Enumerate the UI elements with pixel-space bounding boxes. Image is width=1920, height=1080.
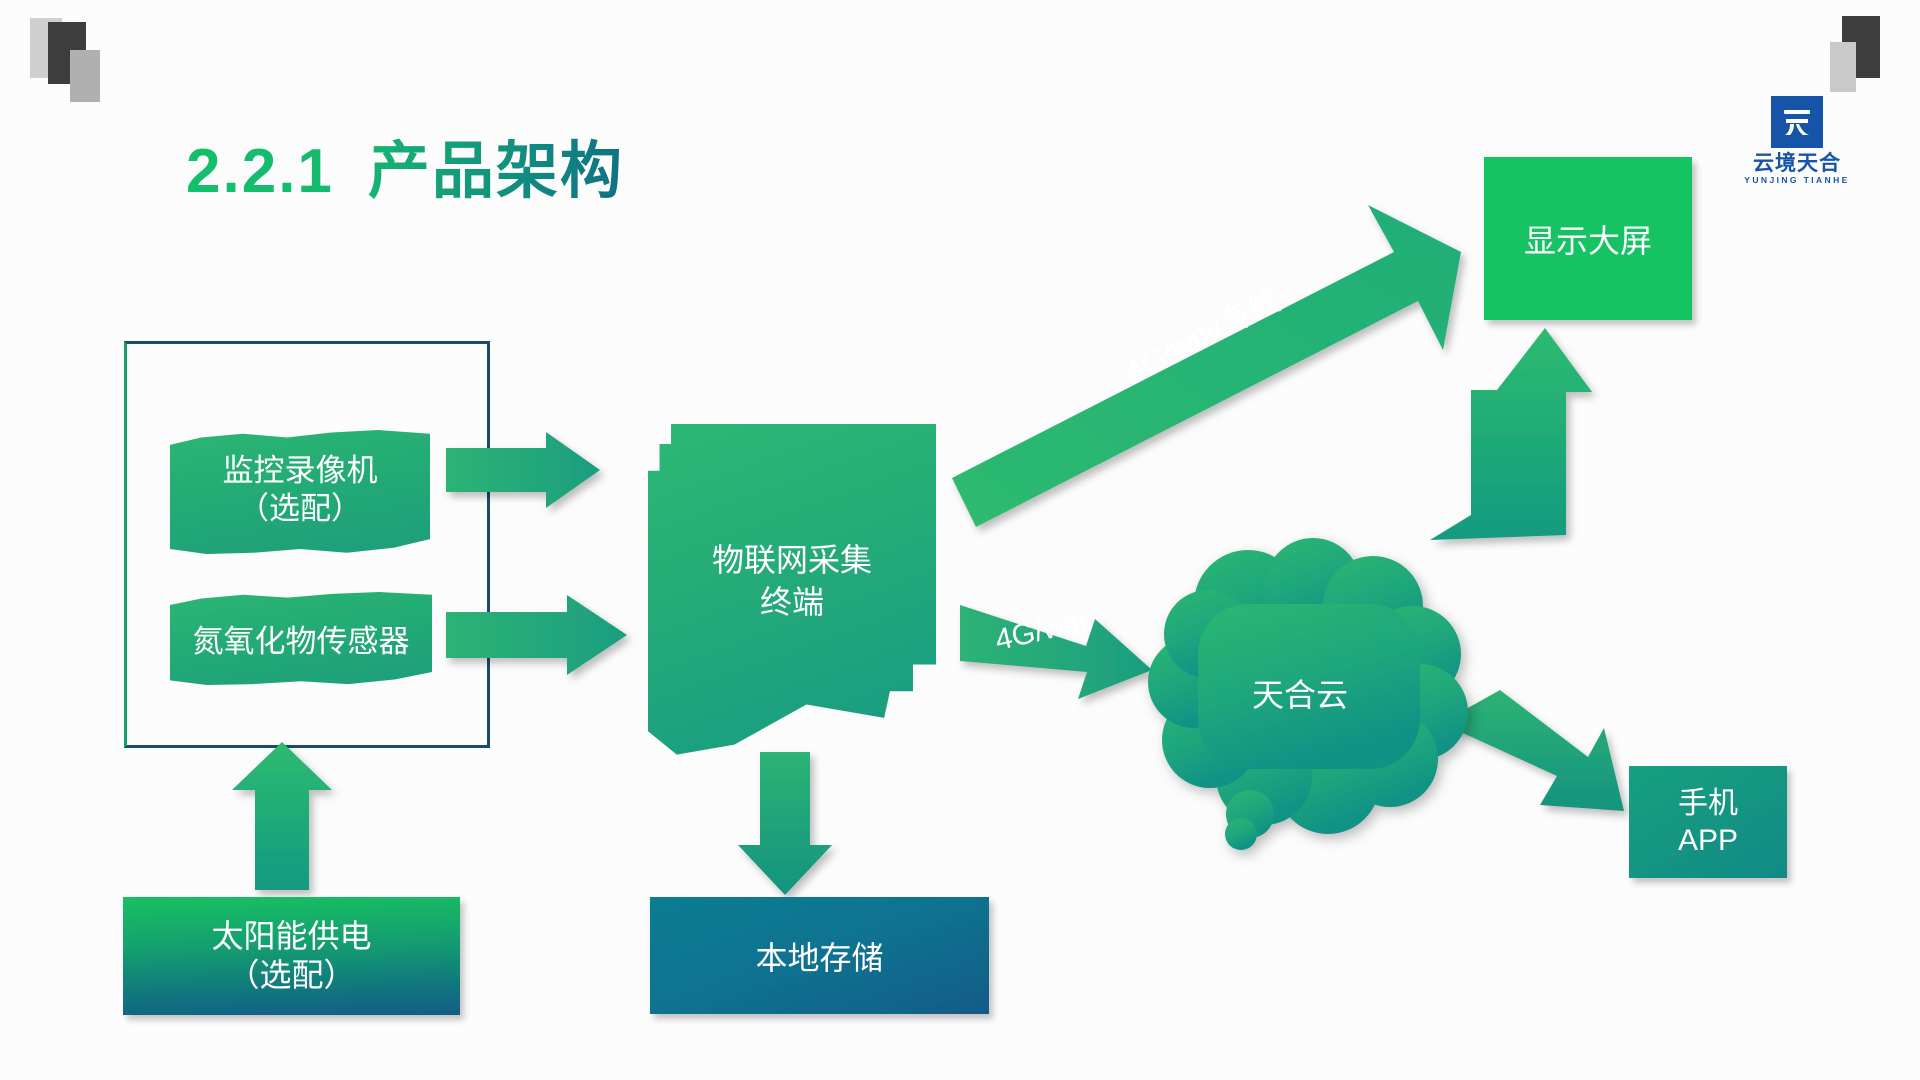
logo-english-name: YUNJING TIANHE <box>1742 175 1852 185</box>
brand-logo: 云境天合 YUNJING TIANHE <box>1742 96 1852 185</box>
node-iot-terminal-label-line2: 终端 <box>712 582 872 624</box>
decoration-top-right <box>1790 0 1920 110</box>
node-big-screen[interactable]: 显示大屏 <box>1484 157 1692 320</box>
arrow-terminal-to-storage <box>738 752 832 895</box>
node-dvr[interactable]: 监控录像机 （选配） <box>170 430 430 554</box>
connection-label-terminal-to-bigscreen: 4G/wifi/专线 <box>1115 275 1288 393</box>
node-solar-power-label-line2: （选配） <box>211 956 371 995</box>
node-solar-power-label-line1: 太阳能供电 <box>211 917 371 956</box>
node-nox-sensor-label: 氮氧化物传感器 <box>193 616 410 661</box>
node-mobile-app-label-line1: 手机 <box>1678 785 1738 823</box>
yunjing-tianhe-mark-icon <box>1771 96 1823 148</box>
node-cloud-shape[interactable] <box>1128 534 1472 850</box>
page-title: 2.2.1产品架构 <box>186 120 624 210</box>
title-text: 产品架构 <box>368 137 624 206</box>
decoration-top-left <box>0 0 130 110</box>
deco-rect-light-3 <box>1830 42 1856 92</box>
arrow-cloud-to-bigscreen <box>1430 328 1592 540</box>
node-big-screen-label: 显示大屏 <box>1524 216 1652 262</box>
arrow-terminal-to-bigscreen <box>952 205 1461 527</box>
title-number: 2.2.1 <box>186 137 334 206</box>
node-solar-power[interactable]: 太阳能供电 （选配） <box>123 897 460 1015</box>
arrow-solar-to-group <box>232 742 332 890</box>
node-nox-sensor[interactable]: 氮氧化物传感器 <box>170 592 432 685</box>
node-iot-terminal[interactable]: 物联网采集 终端 <box>648 424 936 758</box>
node-dvr-label-line2: （选配） <box>223 490 378 528</box>
node-mobile-app[interactable]: 手机 APP <box>1629 766 1787 878</box>
node-local-storage[interactable]: 本地存储 <box>650 897 989 1014</box>
node-mobile-app-label-line2: APP <box>1678 822 1738 860</box>
node-iot-terminal-label-line1: 物联网采集 <box>712 540 872 582</box>
node-local-storage-label: 本地存储 <box>755 933 883 979</box>
node-dvr-label-line1: 监控录像机 <box>223 452 378 490</box>
arrow-terminal-to-cloud <box>960 605 1152 699</box>
deco-rect-light-2 <box>70 50 100 102</box>
connection-label-terminal-to-cloud: 4G/wifi <box>992 604 1089 658</box>
logo-chinese-name: 云境天合 <box>1742 153 1852 175</box>
